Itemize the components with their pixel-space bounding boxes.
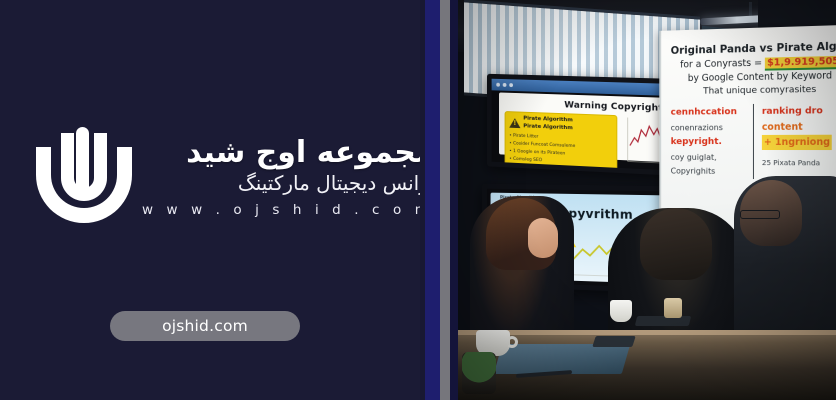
logo-vertical-bar [76, 127, 89, 189]
coffee-mug-center [610, 300, 632, 322]
whiteboard-left-item: cennhccation [671, 104, 748, 120]
ojshid-u-logo-icon [30, 125, 138, 229]
brand-text-block: مجموعه اوج شید آژانس دیجیتال مارکتینگ w … [142, 136, 436, 219]
whiteboard-left-column: cennhccation conenrazions kepyright. coy… [671, 104, 754, 179]
divider-stripe-gray [440, 0, 450, 400]
brand-title: مجموعه اوج شید [142, 136, 434, 170]
divider-stripe-blue [425, 0, 440, 400]
promo-banner: مجموعه اوج شید آژانس دیجیتال مارکتینگ w … [0, 0, 836, 400]
alert-heading-line-2: Pirate Algorithm [523, 123, 573, 131]
browser-dots-icon [496, 82, 513, 86]
head [640, 208, 712, 280]
table-edge [458, 330, 836, 335]
potted-plant [462, 352, 496, 394]
whiteboard-footnote: 25 Pixata Panda [762, 158, 832, 169]
coffee-mug-right [664, 298, 682, 318]
alert-header: Pirate Algorithm Pirate Algorithm [509, 115, 612, 134]
whiteboard-right-item: + 1ngrniong [762, 134, 832, 149]
whiteboard-right-item: content [762, 119, 832, 135]
brand-lockup: مجموعه اوج شید آژانس دیجیتال مارکتینگ w … [16, 118, 406, 236]
head [740, 180, 802, 246]
divider-stripe-navy-inner [450, 0, 458, 400]
whiteboard-right-item: ranking dro [762, 103, 832, 119]
whiteboard-line-4: That unique comyrasites [703, 83, 835, 98]
whiteboard-left-item: conenrazions [671, 120, 748, 135]
whiteboard-line-2-prefix: for a Conyrasts = [680, 58, 765, 71]
whiteboard-right-column: ranking dro content + 1ngrniong 25 Pixat… [754, 103, 832, 179]
alert-heading-line-1: Pirate Algorithm [523, 116, 573, 124]
glasses-icon [740, 210, 780, 219]
alert-bullet-list: Pirate Litter Cosider Funcoat Comsuleme … [509, 133, 612, 169]
whiteboard-left-item: coy guiglat, [671, 150, 748, 165]
copyright-alert-box: Pirate Algorithm Pirate Algorithm Pirate… [505, 111, 618, 173]
whiteboard-columns: cennhccation conenrazions kepyright. coy… [671, 103, 835, 179]
cup-handle [506, 336, 518, 348]
whiteboard-left-item: kepyright. [671, 134, 748, 149]
alert-heading-text: Pirate Algorithm Pirate Algorithm [523, 116, 573, 133]
laptop [494, 344, 631, 374]
tick-label: 0 [634, 169, 636, 173]
brand-panel: مجموعه اوج شید آژانس دیجیتال مارکتینگ w … [0, 0, 420, 400]
brand-url: w w w . o j s h i d . c o m [142, 202, 434, 218]
face [528, 218, 558, 258]
smartphone [592, 336, 636, 347]
brand-subtitle: آژانس دیجیتال مارکتینگ [142, 170, 434, 197]
office-meeting-photo: Warning Copyright Algurithm Pirate Algor… [458, 0, 836, 400]
domain-pill-button[interactable]: ojshid.com [110, 311, 300, 341]
keyboard [635, 316, 691, 326]
whiteboard-left-item: Copyrighits [671, 164, 748, 179]
warning-triangle-icon [509, 118, 520, 128]
